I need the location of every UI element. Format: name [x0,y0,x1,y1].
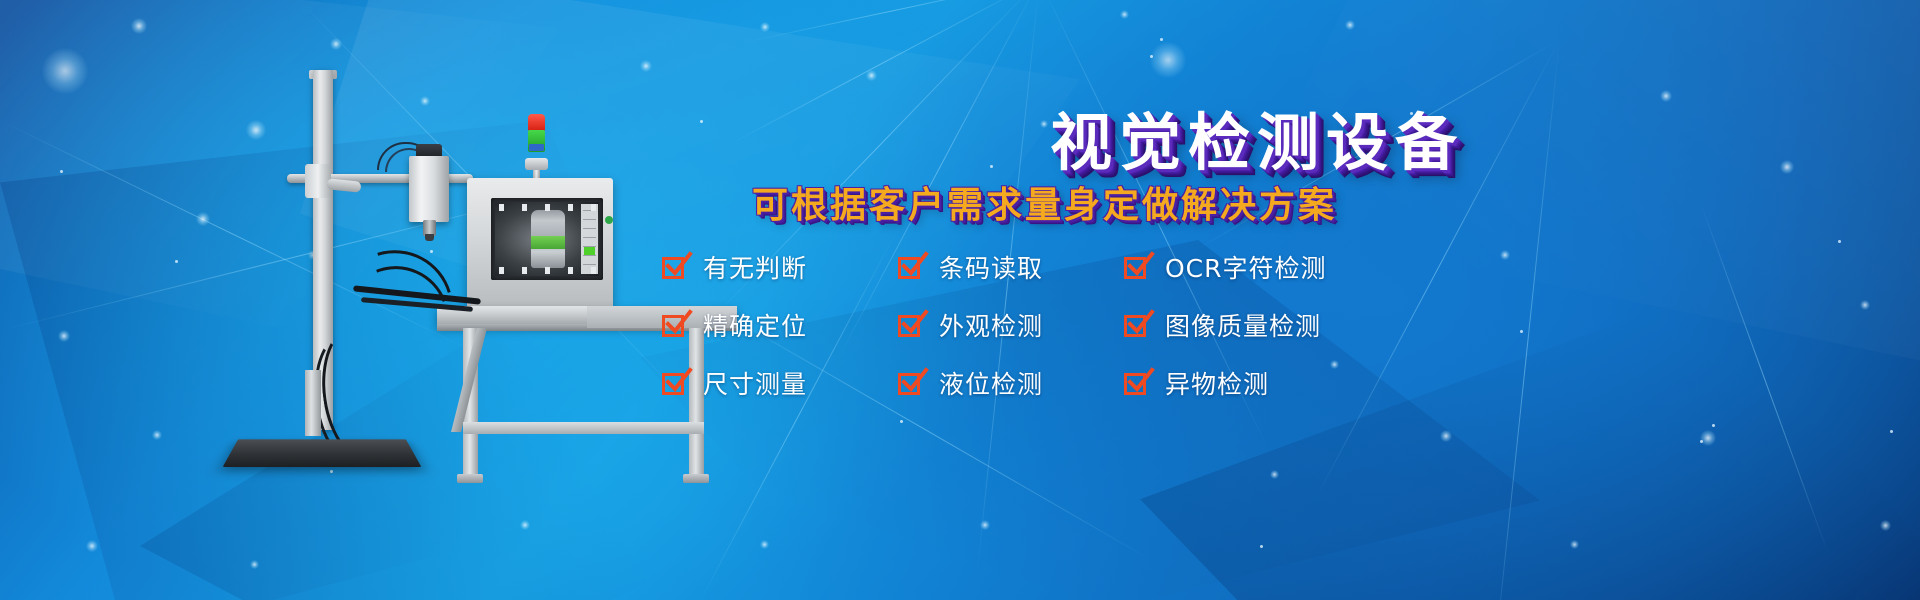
bokeh-dot [131,18,147,34]
bokeh-dot [152,430,162,440]
checkbox-checked-icon[interactable] [1124,371,1149,396]
feature-label: 图像质量检测 [1165,307,1321,343]
checkmark-icon [899,308,929,338]
screen-light-tick [545,204,550,211]
screen-readout-line [583,237,596,238]
checkmark-icon [663,366,693,396]
checkmark-icon [663,308,693,338]
bokeh-dot [86,540,98,552]
screen-light-tick [568,267,573,274]
base-riser [305,370,321,436]
feature-item[interactable]: 外观检测 [898,307,1124,343]
feature-item[interactable]: 图像质量检测 [1124,307,1382,343]
screen-status-indicator [584,246,595,255]
checkmark-icon [1125,250,1155,280]
checkmark-icon [899,250,929,280]
feature-item[interactable]: 有无判断 [662,249,898,285]
bottle-label-region [531,236,565,249]
checkbox-checked-icon[interactable] [1124,313,1149,338]
base-plate [223,439,422,467]
checkmark-icon [1125,366,1155,396]
bokeh-dot [520,520,530,530]
screen-readout-line [583,255,596,256]
signal-light-band [529,144,544,151]
checkbox-checked-icon[interactable] [1124,255,1149,280]
feature-label: 液位检测 [939,365,1043,401]
screen-light-tick [545,267,550,274]
checkmark-icon [899,366,929,396]
table-foot [457,474,483,483]
camera-head [409,156,449,222]
feature-label: 异物检测 [1165,365,1269,401]
feature-label: 条码读取 [939,249,1043,285]
screen-light-tick [499,267,504,274]
feature-label: 外观检测 [939,307,1043,343]
screen-light-tick [591,204,596,211]
bokeh-dot [42,48,88,94]
background-star [175,260,178,263]
screen-readout-line [583,246,596,247]
cabinet-indicator-lamp [605,216,613,224]
product-photo-vision-inspection-machine [195,70,615,500]
checkbox-checked-icon[interactable] [662,371,687,396]
screen-readout-line [583,219,596,220]
checkmark-icon [1125,308,1155,338]
screen-light-tick [591,267,596,274]
feature-label: 尺寸测量 [703,365,807,401]
bokeh-dot [250,560,259,569]
feature-item[interactable]: 条码读取 [898,249,1124,285]
screen-light-tick [499,204,504,211]
screen-readout-line [583,228,596,229]
screen-readout-line [583,264,596,265]
screen-light-tick [568,204,573,211]
checkbox-checked-icon[interactable] [662,313,687,338]
feature-item[interactable]: 精确定位 [662,307,898,343]
feature-list: 有无判断条码读取OCR字符检测精确定位外观检测图像质量检测尺寸测量液位检测异物检… [662,238,1382,412]
promo-banner: 视觉检测设备 可根据客户需求量身定做解决方案 有无判断条码读取OCR字符检测精确… [0,0,1920,600]
signal-light-red [528,114,545,131]
background-star [60,170,63,173]
feature-item[interactable]: 尺寸测量 [662,365,898,401]
feature-label: 有无判断 [703,249,807,285]
feature-label: OCR字符检测 [1165,249,1327,285]
feature-label: 精确定位 [703,307,807,343]
bokeh-dot [330,38,342,50]
bokeh-dot [58,330,70,342]
feature-item[interactable]: 异物检测 [1124,365,1382,401]
checkmark-icon [663,250,693,280]
feature-item[interactable]: 液位检测 [898,365,1124,401]
checkbox-checked-icon[interactable] [898,255,923,280]
checkbox-checked-icon[interactable] [898,371,923,396]
screen-light-tick [522,204,527,211]
camera-lens-tip [425,234,434,241]
copy-block: 视觉检测设备 可根据客户需求量身定做解决方案 有无判断条码读取OCR字符检测精确… [640,0,1920,600]
checkbox-checked-icon[interactable] [662,255,687,280]
checkbox-checked-icon[interactable] [898,313,923,338]
feature-item[interactable]: OCR字符检测 [1124,249,1382,285]
signal-tower-base [525,158,548,170]
screen-light-tick [522,267,527,274]
page-subtitle: 可根据客户需求量身定做解决方案 [752,176,1337,228]
page-title: 视觉检测设备 [1050,92,1464,182]
